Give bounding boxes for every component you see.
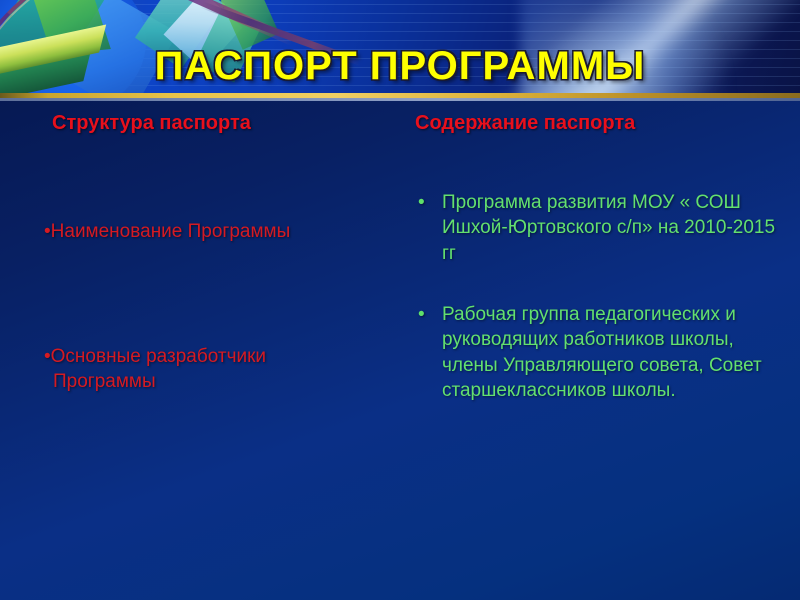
left-column-heading: Структура паспорта [40,112,400,135]
bullet-marker: • [44,221,51,242]
bullet-marker: • [410,302,442,327]
left-bullet-item-2-text: Основные разработчики [51,346,266,367]
left-bullet-item-2-text-line2: Программы [44,370,384,395]
left-column: Структура паспорта •Наименование Програм… [40,112,400,135]
bullet-marker: • [44,346,51,367]
right-bullet-item-2-text: Рабочая группа педагогических и руководя… [442,302,788,403]
header-light-divider [0,98,800,101]
left-bullet-item-1: •Наименование Программы [44,220,384,245]
right-column-heading: Содержание паспорта [410,112,790,135]
slide-title: ПАСПОРТ ПРОГРАММЫ [0,44,800,89]
right-bullet-item-1-text: Программа развития МОУ « СОШ Ишхой-Юртов… [442,190,788,266]
bullet-marker: • [410,190,442,215]
right-bullet-item-2: • Рабочая группа педагогических и руково… [410,302,788,403]
right-column: Содержание паспорта • Программа развития… [410,112,790,135]
left-bullet-item-2: •Основные разработчики Программы [44,345,384,394]
presentation-slide: ПАСПОРТ ПРОГРАММЫ Структура паспорта •На… [0,0,800,600]
right-bullet-item-1: • Программа развития МОУ « СОШ Ишхой-Юрт… [410,190,788,266]
left-bullet-item-1-text: Наименование Программы [51,221,291,242]
